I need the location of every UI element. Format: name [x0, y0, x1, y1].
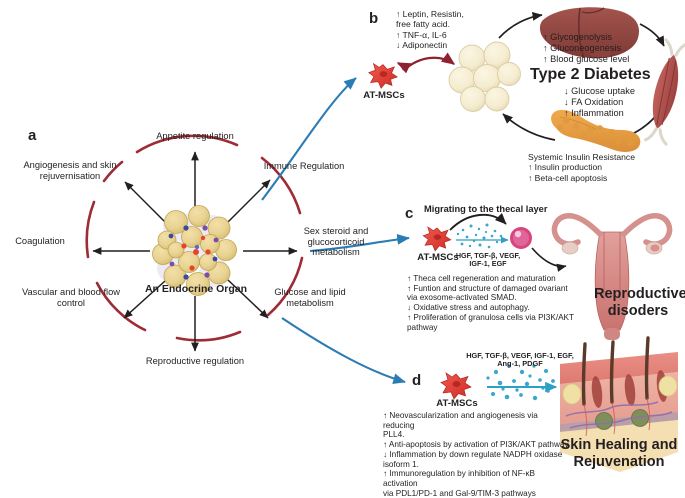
exosome-field-c	[457, 224, 503, 249]
panel-a-node-angiogenesis: Angiogenesis and skin rejuvernisation	[8, 160, 132, 181]
panel-b-disease-title: Type 2 Diabetes	[530, 66, 651, 84]
scientific-figure: a Appetite regulation Immune Regulation …	[0, 0, 685, 482]
panel-d-effects-list: ↑ Neovascularization and angiogenesis vi…	[383, 411, 571, 498]
at-msc-cell-d	[441, 373, 471, 399]
adipocyte-cluster-b	[449, 42, 521, 112]
panel-c-outcome-title: Reproductive disoders	[594, 286, 682, 319]
panel-a-letter: a	[28, 127, 36, 144]
arrow-adipose-to-liver	[499, 15, 542, 38]
oocyte-cell-c	[510, 227, 532, 249]
panel-d-outcome-title: Skin Healing and Rejuvenation	[556, 437, 682, 470]
at-msc-cell-b	[369, 64, 398, 89]
panel-d-letter: d	[412, 372, 421, 389]
adipocyte-cluster-center	[153, 206, 237, 296]
panel-a-node-glucose-lipid: Glucose and lipid metabolism	[262, 287, 358, 308]
arrow-pancreas-to-adipose	[503, 114, 555, 140]
arrow-immune	[228, 180, 270, 222]
panel-b-letter: b	[369, 10, 378, 27]
panel-b-atmsc-label: AT-MSCs	[356, 90, 412, 101]
panel-d-atmsc-label: AT-MSCs	[429, 398, 485, 409]
panel-c-migration-label: Migrating to the thecal layer	[424, 204, 547, 214]
panel-a-node-coagulation: Coagulation	[2, 236, 78, 247]
panel-c-growth-factors: HGF, TGF-β, VEGF, IGF-1, EGF	[452, 252, 524, 269]
panel-b-liver-effects: ↑ Glycogenolysis ↑ Gluconeogenesis ↑ Blo…	[543, 32, 683, 65]
migration-arrow-c	[450, 215, 506, 230]
at-msc-cell-c	[423, 227, 451, 251]
oocyte-to-uterus-arrow	[532, 248, 566, 266]
panel-a-arrows	[93, 152, 297, 351]
panel-b-pancreas-effects: Systemic Insulin Resistance ↑ Insulin pr…	[528, 152, 678, 183]
arrow-angiogenesis	[125, 182, 165, 222]
connector-a-to-b	[262, 78, 356, 200]
panel-c-effects-list: ↑ Theca cell regeneration and maturation…	[407, 274, 599, 332]
panel-c-letter: c	[405, 205, 413, 222]
cluster-signal-dots	[169, 225, 219, 279]
panel-a-node-appetite: Appetite regulation	[136, 131, 254, 142]
panel-b-bidirectional-arrow	[398, 58, 454, 70]
panel-b-muscle-effects: ↓ Glucose uptake ↓ FA Oxidation ↑ Inflam…	[564, 86, 684, 119]
panel-b-adipokine-list: ↑ Leptin, Resistin, free fatty acid. ↑ T…	[396, 9, 500, 50]
panel-a-node-vascular: Vascular and blood flow control	[12, 287, 130, 308]
panel-a-node-sex-steroid: Sex steroid and glucocorticoid metabolis…	[294, 226, 378, 258]
panel-a-node-reproductive: Reproductive regulation	[135, 356, 255, 367]
panel-d-growth-factors: HGF, TGF-β, VEGF, IGF-1, EGF, Ang-1, PDG…	[462, 352, 578, 369]
exosome-field-d	[486, 364, 554, 400]
panel-a-center-label: An Endocrine Organ	[128, 283, 264, 295]
panel-a-node-immune: Immune Regulation	[252, 161, 356, 172]
connector-a-to-d	[282, 318, 405, 382]
